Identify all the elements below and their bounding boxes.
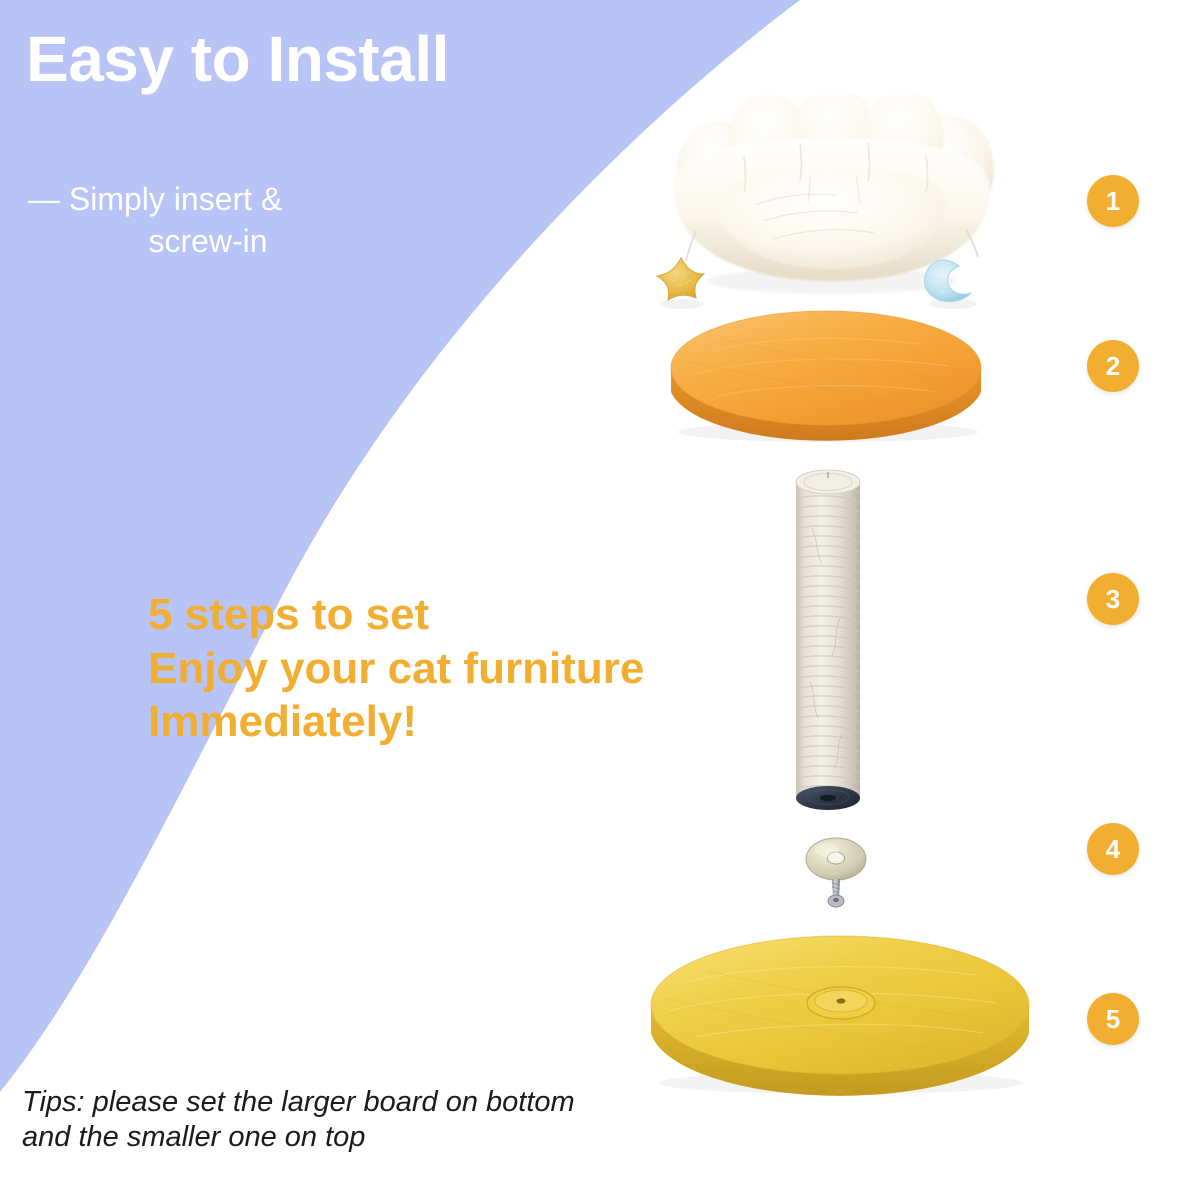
page-title: Easy to Install xyxy=(26,26,646,93)
step-badge-1[interactable]: 1 xyxy=(1087,175,1139,227)
product-instruction-graphic: Easy to Install — Simply insert & screw-… xyxy=(0,0,1200,1200)
step-badge-2[interactable]: 2 xyxy=(1087,340,1139,392)
orange-board-illustration xyxy=(665,300,987,444)
subtitle-line-1: — Simply insert & xyxy=(28,178,388,220)
step-badge-5-label: 5 xyxy=(1106,1004,1120,1035)
part-washer-screw xyxy=(800,833,872,915)
sisal-post-illustration xyxy=(790,468,866,816)
part-orange-board xyxy=(665,300,987,444)
part-yellow-board xyxy=(645,925,1035,1097)
promo-line-2: Enjoy your cat furniture xyxy=(148,642,788,696)
promo-line-1: 5 steps to set xyxy=(148,588,788,642)
yellow-board-illustration xyxy=(645,925,1035,1097)
step-badge-3-label: 3 xyxy=(1106,584,1120,615)
step-badge-5[interactable]: 5 xyxy=(1087,993,1139,1045)
step-badge-1-label: 1 xyxy=(1106,186,1120,217)
tips-note: Tips: please set the larger board on bot… xyxy=(22,1085,722,1156)
subtitle-line-2: screw-in xyxy=(28,220,388,262)
part-sisal-post xyxy=(790,468,866,816)
promo-text: 5 steps to set Enjoy your cat furniture … xyxy=(148,588,788,749)
tips-line-1: Tips: please set the larger board on bot… xyxy=(22,1085,722,1120)
step-badge-2-label: 2 xyxy=(1106,351,1120,382)
step-badge-3[interactable]: 3 xyxy=(1087,573,1139,625)
washer-screw-illustration xyxy=(800,833,872,915)
tips-line-2: and the smaller one on top xyxy=(22,1120,722,1155)
promo-line-3: Immediately! xyxy=(148,695,788,749)
step-badge-4[interactable]: 4 xyxy=(1087,823,1139,875)
subtitle: — Simply insert & screw-in xyxy=(28,178,388,262)
step-badge-4-label: 4 xyxy=(1106,834,1120,865)
